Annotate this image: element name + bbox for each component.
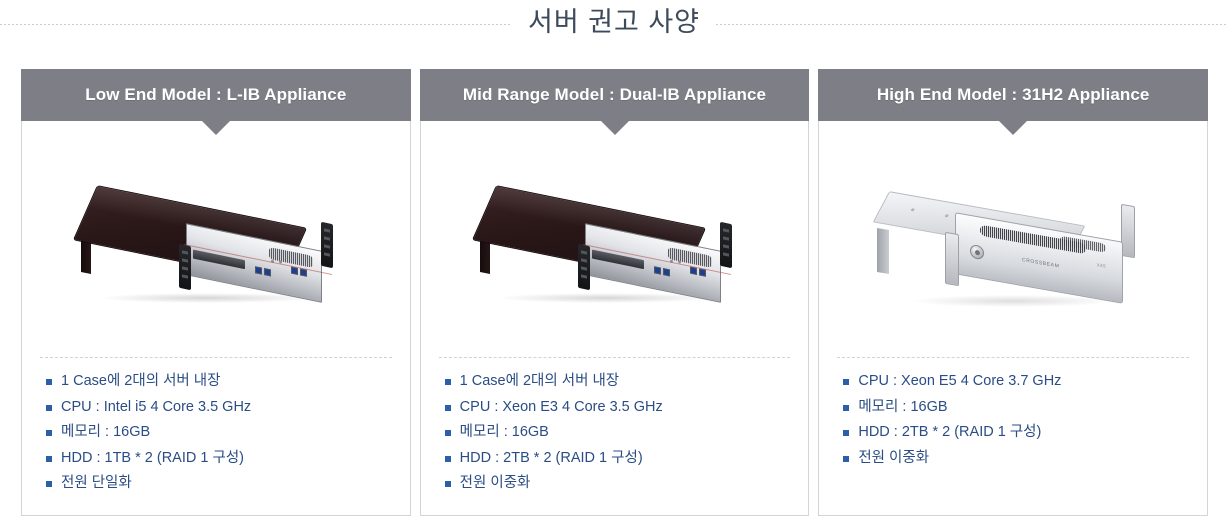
bullet-square-icon <box>46 430 52 436</box>
card-body-high-end: CPU : Xeon E5 4 Core 3.7 GHz 메모리 : 16GB … <box>819 357 1207 515</box>
dark-1u-rackmount-server-icon <box>475 167 755 337</box>
server-model-card-row: Low End Model : L-IB Appliance <box>21 70 1208 516</box>
chevron-down-icon <box>202 121 230 135</box>
card-header-label: Low End Model : L-IB Appliance <box>85 85 346 105</box>
bullet-square-icon <box>445 481 451 487</box>
bullet-square-icon <box>46 379 52 385</box>
bullet-square-icon <box>843 405 849 411</box>
title-rule-left <box>0 24 512 25</box>
list-item: CPU : Xeon E3 4 Core 3.5 GHz <box>435 400 795 426</box>
server-card-high-end[interactable]: High End Model : 31H2 Appliance CROSS <box>818 70 1208 516</box>
list-item: 전원 단일화 <box>36 476 396 502</box>
silver-2u-rackmount-server-icon: CROSSBEAM X45 <box>873 167 1153 337</box>
list-item: 전원 이중화 <box>833 451 1193 477</box>
list-item: HDD : 2TB * 2 (RAID 1 구성) <box>435 451 795 477</box>
card-body-low-end: 1 Case에 2대의 서버 내장 CPU : Intel i5 4 Core … <box>22 357 410 515</box>
page-title-row: 서버 권고 사양 <box>0 0 1228 44</box>
server-card-mid-range[interactable]: Mid Range Model : Dual-IB Appliance <box>420 70 810 516</box>
spec-divider <box>837 357 1189 358</box>
dark-1u-rackmount-server-icon <box>76 167 356 337</box>
server-brand-label: CROSSBEAM <box>1022 257 1059 270</box>
server-image-mid-range <box>421 121 809 357</box>
list-item: 1 Case에 2대의 서버 내장 <box>435 374 795 400</box>
list-item: 메모리 : 16GB <box>833 400 1193 426</box>
card-header-label: Mid Range Model : Dual-IB Appliance <box>463 85 766 105</box>
list-item: CPU : Xeon E5 4 Core 3.7 GHz <box>833 374 1193 400</box>
list-item: 1 Case에 2대의 서버 내장 <box>36 374 396 400</box>
page-title: 서버 권고 사양 <box>528 9 700 36</box>
bullet-square-icon <box>445 379 451 385</box>
list-item: 메모리 : 16GB <box>435 425 795 451</box>
server-image-high-end: CROSSBEAM X45 <box>819 121 1207 357</box>
server-card-low-end[interactable]: Low End Model : L-IB Appliance <box>21 70 411 516</box>
bullet-square-icon <box>445 405 451 411</box>
card-header-label: High End Model : 31H2 Appliance <box>877 85 1150 105</box>
card-header-high-end: High End Model : 31H2 Appliance <box>818 69 1208 121</box>
spec-list-mid-range: 1 Case에 2대의 서버 내장 CPU : Xeon E3 4 Core 3… <box>435 374 795 502</box>
bullet-square-icon <box>46 405 52 411</box>
bullet-square-icon <box>843 379 849 385</box>
chevron-down-icon <box>999 121 1027 135</box>
server-model-label: X45 <box>1097 262 1106 269</box>
spec-divider <box>439 357 791 358</box>
card-header-mid-range: Mid Range Model : Dual-IB Appliance <box>420 69 810 121</box>
bullet-square-icon <box>843 430 849 436</box>
chevron-down-icon <box>601 121 629 135</box>
server-image-low-end <box>22 121 410 357</box>
bullet-square-icon <box>46 456 52 462</box>
spec-divider <box>40 357 392 358</box>
bullet-square-icon <box>445 430 451 436</box>
card-body-mid-range: 1 Case에 2대의 서버 내장 CPU : Xeon E3 4 Core 3… <box>421 357 809 515</box>
power-button-icon <box>970 244 984 260</box>
spec-list-high-end: CPU : Xeon E5 4 Core 3.7 GHz 메모리 : 16GB … <box>833 374 1193 476</box>
list-item: 메모리 : 16GB <box>36 425 396 451</box>
card-header-low-end: Low End Model : L-IB Appliance <box>21 69 411 121</box>
list-item: HDD : 2TB * 2 (RAID 1 구성) <box>833 425 1193 451</box>
title-rule-right <box>716 24 1228 25</box>
bullet-square-icon <box>445 456 451 462</box>
bullet-square-icon <box>46 481 52 487</box>
list-item: 전원 이중화 <box>435 476 795 502</box>
bullet-square-icon <box>843 456 849 462</box>
spec-list-low-end: 1 Case에 2대의 서버 내장 CPU : Intel i5 4 Core … <box>36 374 396 502</box>
list-item: HDD : 1TB * 2 (RAID 1 구성) <box>36 451 396 477</box>
list-item: CPU : Intel i5 4 Core 3.5 GHz <box>36 400 396 426</box>
